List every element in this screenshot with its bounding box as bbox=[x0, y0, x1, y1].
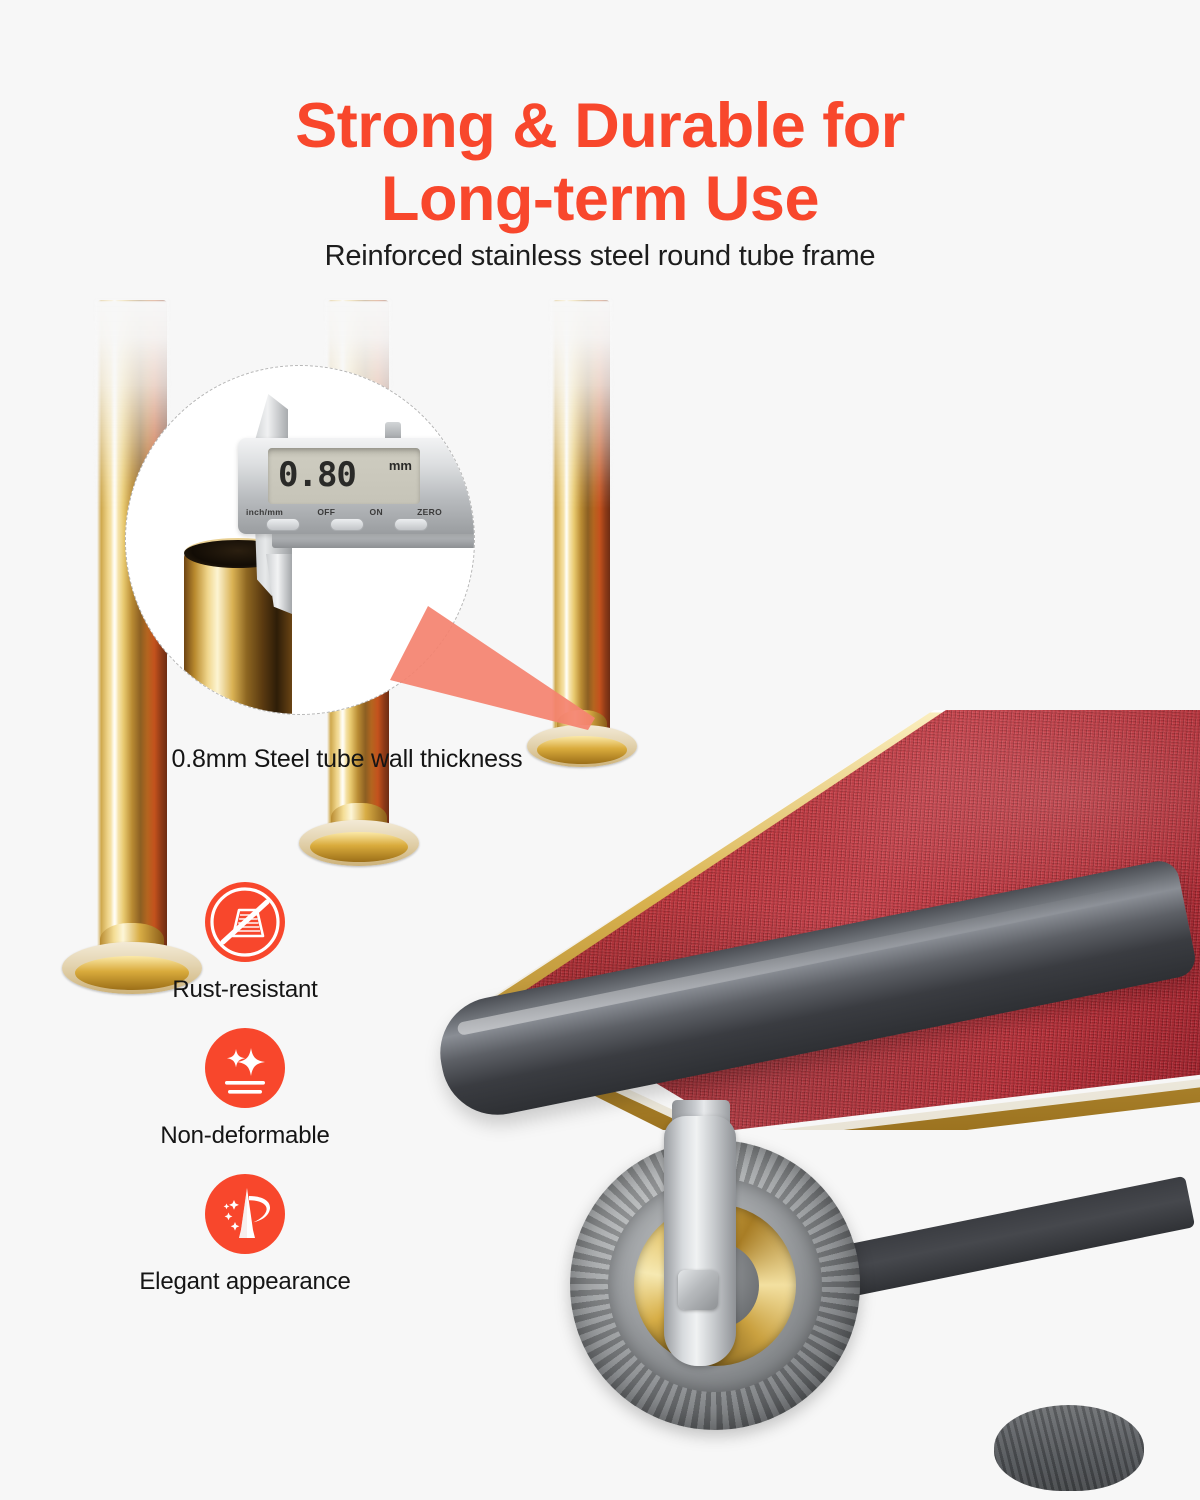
callout-pointer-arrow bbox=[390, 596, 620, 736]
caliper-button-labels: inch/mm OFF ON ZERO bbox=[246, 507, 442, 517]
caliper-label-on: ON bbox=[370, 507, 383, 517]
pointer-wedge-shape bbox=[390, 606, 595, 730]
feature-item-rust-resistant: Rust-resistant bbox=[120, 880, 370, 1004]
no-rust-icon bbox=[203, 880, 287, 964]
caliper-button-inchmm bbox=[266, 518, 300, 531]
feature-label: Rust-resistant bbox=[120, 976, 370, 1004]
elegant-tower-icon bbox=[203, 1172, 287, 1256]
caliper-reading-value: 0.80 bbox=[278, 455, 356, 495]
feature-item-elegant-appearance: Elegant appearance bbox=[120, 1172, 370, 1296]
caliper-button-onoff bbox=[330, 518, 364, 531]
page-subtitle: Reinforced stainless steel round tube fr… bbox=[0, 240, 1200, 273]
page-title: Strong & Durable for Long-term Use bbox=[0, 90, 1200, 236]
page-title-line2: Long-term Use bbox=[0, 163, 1200, 236]
feature-label: Non-deformable bbox=[120, 1122, 370, 1150]
callout-caption: 0.8mm Steel tube wall thickness bbox=[112, 745, 582, 774]
page-title-line1: Strong & Durable for bbox=[295, 91, 905, 161]
caliper-reading-unit: mm bbox=[389, 458, 412, 473]
caliper-label-inchmm: inch/mm bbox=[246, 507, 283, 517]
sparkle-plate-icon bbox=[203, 1026, 287, 1110]
cart-pole-base-middle bbox=[299, 820, 419, 866]
pole-top-fade bbox=[550, 300, 612, 510]
cart-rear-wheel bbox=[994, 1405, 1144, 1491]
caster-axle-bolt bbox=[678, 1270, 718, 1310]
infographic-canvas: Strong & Durable for Long-term Use Reinf… bbox=[0, 0, 1200, 1500]
feature-list: Rust-resistant Non-deformable bbox=[120, 880, 370, 1317]
caliper-label-zero: ZERO bbox=[417, 507, 442, 517]
caliper-lcd-screen: 0.80 mm bbox=[268, 448, 420, 504]
feature-item-non-deformable: Non-deformable bbox=[120, 1026, 370, 1150]
caliper-label-off: OFF bbox=[317, 507, 335, 517]
caster-fork bbox=[664, 1116, 736, 1366]
feature-label: Elegant appearance bbox=[120, 1268, 370, 1296]
caliper-button-zero bbox=[394, 518, 428, 531]
